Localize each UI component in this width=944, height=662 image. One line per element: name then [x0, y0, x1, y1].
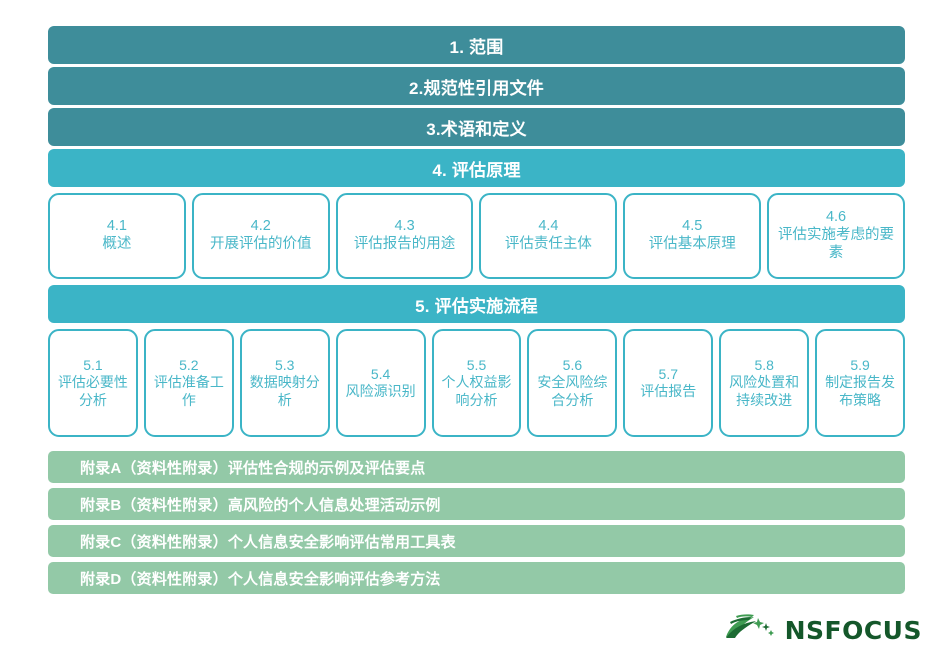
section-bar-2-label: 2.规范性引用文件 — [409, 74, 544, 99]
subitem-box-4-5[interactable]: 4.5 评估基本原理 — [623, 193, 761, 279]
section-bar-1-label: 1. 范围 — [450, 33, 504, 58]
subitem-caption: 评估报告 — [640, 383, 696, 400]
subitem-caption: 概述 — [102, 236, 131, 254]
subitem-box-4-1[interactable]: 4.1 概述 — [48, 193, 186, 279]
subitem-number: 4.6 — [826, 209, 846, 227]
appendix-bar-b[interactable]: 附录B（资料性附录）高风险的个人信息处理活动示例 — [48, 488, 905, 520]
appendix-bar-c-label: 附录C（资料性附录）个人信息安全影响评估常用工具表 — [80, 531, 456, 552]
appendix-bar-list: 附录A（资料性附录）评估性合规的示例及评估要点 附录B（资料性附录）高风险的个人… — [48, 451, 905, 594]
subitem-caption: 评估基本原理 — [649, 236, 736, 254]
subitem-number: 5.1 — [83, 357, 102, 374]
subitem-number: 5.4 — [371, 366, 390, 383]
subitem-number: 5.7 — [659, 366, 678, 383]
section-4-subitems-row: 4.1 概述 4.2 开展评估的价值 4.3 评估报告的用途 4.4 评估责任主… — [48, 193, 905, 279]
subitem-box-5-4[interactable]: 5.4 风险源识别 — [336, 329, 426, 437]
standard-structure-diagram: 1. 范围 2.规范性引用文件 3.术语和定义 4. 评估原理 4.1 概述 4… — [48, 26, 905, 599]
subitem-box-4-4[interactable]: 4.4 评估责任主体 — [479, 193, 617, 279]
subitem-number: 5.5 — [467, 357, 486, 374]
subitem-box-4-2[interactable]: 4.2 开展评估的价值 — [192, 193, 330, 279]
subitem-number: 5.3 — [275, 357, 294, 374]
subitem-number: 5.6 — [563, 357, 582, 374]
nsfocus-swoosh-icon — [724, 613, 778, 648]
subitem-number: 4.3 — [394, 218, 414, 236]
subitem-box-5-2[interactable]: 5.2 评估准备工作 — [144, 329, 234, 437]
subitem-box-5-8[interactable]: 5.8 风险处置和持续改进 — [719, 329, 809, 437]
section-bar-4-label: 4. 评估原理 — [432, 156, 520, 181]
subitem-box-5-3[interactable]: 5.3 数据映射分析 — [240, 329, 330, 437]
subitem-caption: 个人权益影响分析 — [437, 374, 517, 408]
subitem-number: 4.5 — [682, 218, 702, 236]
appendix-bar-a-label: 附录A（资料性附录）评估性合规的示例及评估要点 — [80, 457, 425, 478]
subitem-box-5-6[interactable]: 5.6 安全风险综合分析 — [527, 329, 617, 437]
appendix-bar-b-label: 附录B（资料性附录）高风险的个人信息处理活动示例 — [80, 494, 441, 515]
subitem-box-5-7[interactable]: 5.7 评估报告 — [623, 329, 713, 437]
subitem-caption: 评估报告的用途 — [354, 236, 456, 254]
section-bar-5-label: 5. 评估实施流程 — [415, 292, 538, 317]
subitem-box-5-1[interactable]: 5.1 评估必要性分析 — [48, 329, 138, 437]
appendix-bar-c[interactable]: 附录C（资料性附录）个人信息安全影响评估常用工具表 — [48, 525, 905, 557]
section-bar-list: 1. 范围 2.规范性引用文件 3.术语和定义 4. 评估原理 — [48, 26, 905, 187]
section-bar-3[interactable]: 3.术语和定义 — [48, 108, 905, 146]
subitem-caption: 评估实施考虑的要素 — [772, 227, 900, 262]
subitem-number: 5.8 — [754, 357, 773, 374]
subitem-caption: 风险处置和持续改进 — [724, 374, 804, 408]
subitem-caption: 评估责任主体 — [505, 236, 592, 254]
section-bar-3-label: 3.术语和定义 — [426, 115, 527, 140]
subitem-box-4-6[interactable]: 4.6 评估实施考虑的要素 — [767, 193, 905, 279]
section-5-subitems-row: 5.1 评估必要性分析 5.2 评估准备工作 5.3 数据映射分析 5.4 风险… — [48, 329, 905, 437]
section-bar-4[interactable]: 4. 评估原理 — [48, 149, 905, 187]
appendix-bar-d-label: 附录D（资料性附录）个人信息安全影响评估参考方法 — [80, 568, 441, 589]
subitem-caption: 数据映射分析 — [245, 374, 325, 408]
subitem-box-5-9[interactable]: 5.9 制定报告发布策略 — [815, 329, 905, 437]
subitem-caption: 开展评估的价值 — [210, 236, 312, 254]
subitem-number: 5.9 — [850, 357, 869, 374]
subitem-box-4-3[interactable]: 4.3 评估报告的用途 — [336, 193, 474, 279]
subitem-number: 4.1 — [107, 218, 127, 236]
section-bar-2[interactable]: 2.规范性引用文件 — [48, 67, 905, 105]
subitem-number: 4.2 — [251, 218, 271, 236]
subitem-number: 4.4 — [538, 218, 558, 236]
nsfocus-logo: NSFOCUS — [724, 613, 922, 648]
subitem-number: 5.2 — [179, 357, 198, 374]
subitem-caption: 风险源识别 — [346, 383, 416, 400]
subitem-caption: 制定报告发布策略 — [820, 374, 900, 408]
nsfocus-wordmark: NSFOCUS — [785, 616, 922, 645]
appendix-bar-d[interactable]: 附录D（资料性附录）个人信息安全影响评估参考方法 — [48, 562, 905, 594]
section-bar-5[interactable]: 5. 评估实施流程 — [48, 285, 905, 323]
appendix-bar-a[interactable]: 附录A（资料性附录）评估性合规的示例及评估要点 — [48, 451, 905, 483]
subitem-caption: 评估准备工作 — [149, 374, 229, 408]
subitem-box-5-5[interactable]: 5.5 个人权益影响分析 — [432, 329, 522, 437]
subitem-caption: 安全风险综合分析 — [532, 374, 612, 408]
subitem-caption: 评估必要性分析 — [53, 374, 133, 408]
section-bar-1[interactable]: 1. 范围 — [48, 26, 905, 64]
